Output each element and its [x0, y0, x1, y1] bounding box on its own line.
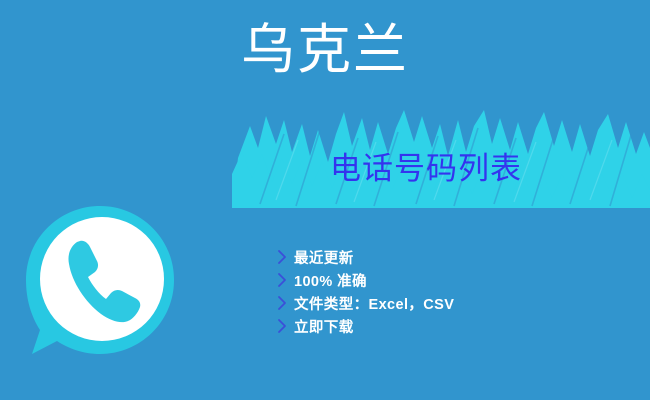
chevron-right-icon: [274, 272, 290, 288]
list-item: 100% 准确: [274, 269, 454, 291]
list-item: 最近更新: [274, 246, 454, 268]
list-item: 立即下载: [274, 315, 454, 337]
subtitle-text: 电话号码列表: [330, 150, 522, 189]
list-item: 文件类型：Excel，CSV: [274, 292, 454, 314]
list-item-label: 文件类型：Excel，CSV: [294, 293, 454, 314]
feature-list: 最近更新 100% 准确 文件类型：Excel，CSV: [274, 246, 454, 338]
whatsapp-phone-icon: [22, 202, 178, 360]
chevron-right-icon: [274, 295, 290, 311]
list-item-label: 最近更新: [294, 247, 354, 268]
page-title: 乌克兰: [0, 18, 650, 83]
promo-banner: 乌克兰 电话号码列表 最近更新 100% 准确: [0, 0, 650, 400]
chevron-right-icon: [274, 318, 290, 334]
chevron-right-icon: [274, 249, 290, 265]
list-item-label: 100% 准确: [294, 270, 367, 291]
list-item-label: 立即下载: [294, 316, 354, 337]
